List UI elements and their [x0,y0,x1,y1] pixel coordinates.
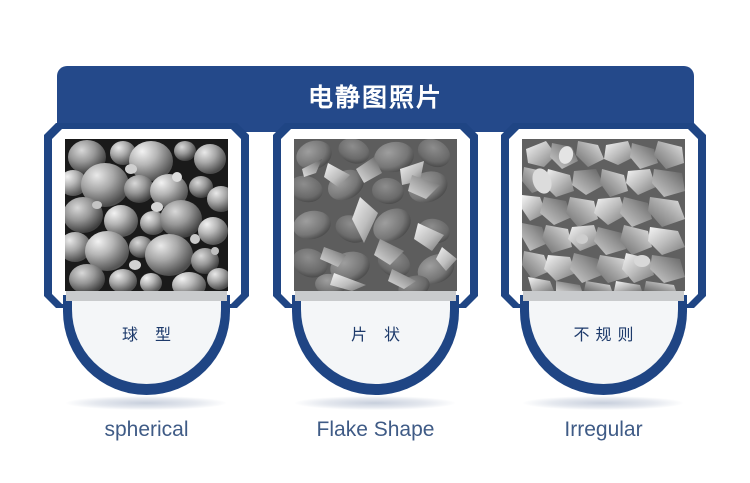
card-shadow [295,396,455,410]
card-label-bowl: 不规则 [520,295,687,395]
card-shelf [295,291,456,301]
card-shelf [523,291,684,301]
card-spherical[interactable]: 球 型 [44,123,249,373]
caption-irregular: Irregular [501,418,706,442]
card-label-bowl-inner: 片 状 [301,295,450,384]
card-label-bowl-inner: 球 型 [72,295,221,384]
caption-flake: Flake Shape [273,418,478,442]
sem-micrograph-irregular-particles [522,139,685,291]
poster-canvas: 电静图照片 [0,0,750,483]
card-label-cn: 不规则 [529,321,678,345]
card-label-bowl: 片 状 [292,295,459,395]
card-shadow [66,396,226,410]
card-label-cn: 片 状 [301,321,450,345]
sem-micrograph-spherical-particles [65,139,228,291]
card-shadow [523,396,683,410]
card-irregular[interactable]: 不规则 [501,123,706,373]
card-label-bowl: 球 型 [63,295,230,395]
card-label-bowl-inner: 不规则 [529,295,678,384]
banner-title: 电静图照片 [57,78,694,114]
caption-spherical: spherical [44,418,249,442]
card-shelf [66,291,227,301]
sem-micrograph-flake-particles [294,139,457,291]
card-flake[interactable]: 片 状 [273,123,478,373]
card-label-cn: 球 型 [72,321,221,345]
